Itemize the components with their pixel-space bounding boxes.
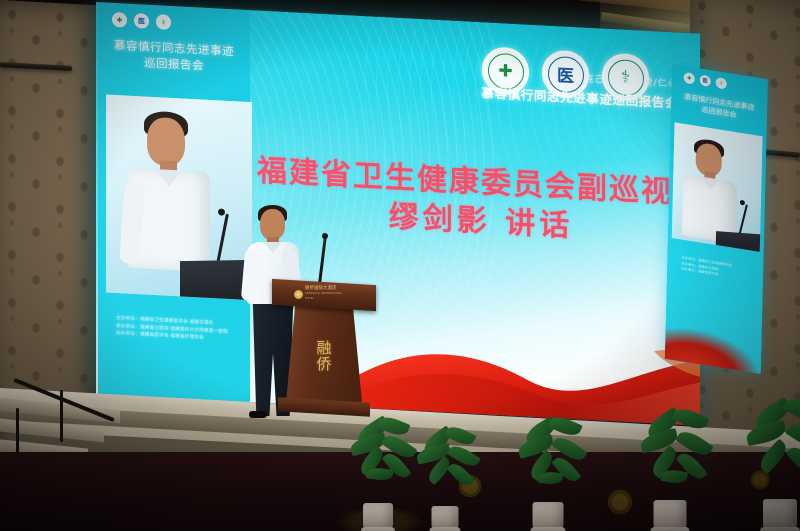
side-panel-live-photo (672, 122, 763, 251)
hospital-logo: 医 (134, 13, 149, 29)
potted-plant (620, 398, 720, 531)
conference-photo: ✚ 医 ⚕ 慕容慎行同志先进事迹 巡回报告会 (0, 0, 800, 531)
led-screen: ✚ 医 ⚕ 慕容慎行同志先进事迹 巡回报告会 (96, 2, 700, 426)
health-commission-logo: ✚ (684, 72, 695, 85)
plant-pot (363, 503, 393, 531)
plant-pot (654, 500, 687, 531)
potted-plant (500, 404, 596, 531)
sidebar-credits: 主办单位：福建省卫生健康委员会 福建日报社 承办单位：福建省立医院 福建医科大学… (116, 315, 248, 344)
health-commission-logo: ✚ (112, 12, 127, 28)
potted-plant (730, 390, 800, 531)
side-led-panel: ✚ 医 ⚕ 慕容慎行同志先进事迹 巡回报告会 主办单位：福建省卫生健康委员会 (665, 64, 768, 374)
plant-pot (763, 499, 797, 531)
plant-pot (533, 502, 564, 531)
potted-plant (400, 412, 490, 531)
sidebar-live-photo (106, 95, 252, 301)
stair-handrail-post (16, 408, 19, 454)
medical-university-logo: ⚕ (156, 14, 171, 30)
speaker-shoe (249, 411, 267, 418)
speaker-head (260, 209, 285, 240)
hospital-logo: 医 (700, 74, 711, 87)
sidebar-logo-row: ✚ 医 ⚕ (112, 12, 171, 30)
podium-emblem: 融侨 (310, 340, 338, 384)
stair-handrail-post (60, 390, 63, 442)
medical-university-logo: ⚕ (716, 77, 727, 90)
sidebar-title: 慕容慎行同志先进事迹 巡回报告会 (98, 36, 250, 76)
podium-nameplate: 融侨国际大酒店 RONGQIAO INTERNATIONAL HOTEL (294, 289, 348, 300)
hotel-name-en: RONGQIAO INTERNATIONAL HOTEL (305, 292, 348, 302)
microphone-capsule (322, 233, 328, 239)
screen-sidebar: ✚ 医 ⚕ 慕容慎行同志先进事迹 巡回报告会 (98, 2, 250, 402)
plant-pot (432, 506, 459, 531)
hotel-logo-icon (294, 290, 303, 299)
